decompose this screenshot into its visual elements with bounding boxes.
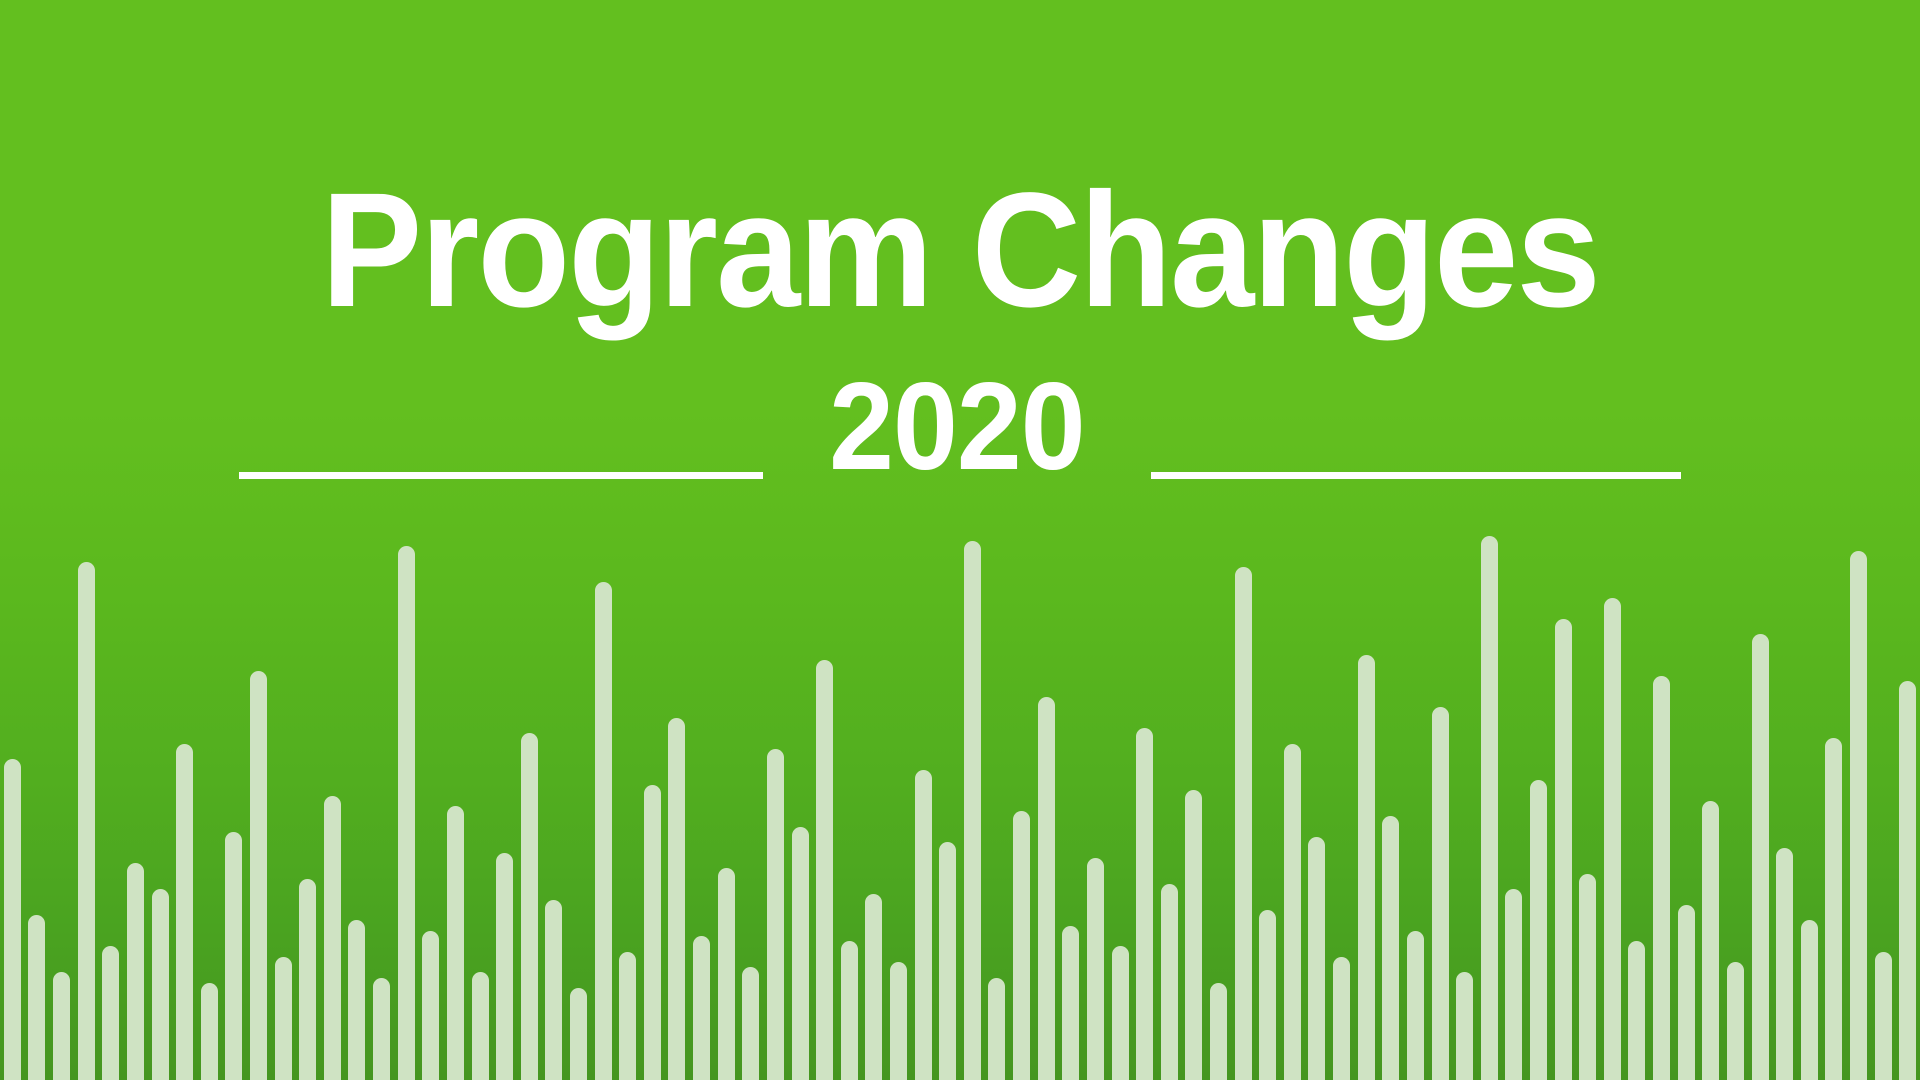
waveform-bar (1678, 905, 1695, 1080)
waveform-bar (1530, 780, 1547, 1080)
waveform-bar-chart (0, 520, 1920, 1080)
waveform-bar (1382, 816, 1399, 1080)
waveform-bar (1308, 837, 1325, 1080)
waveform-bar (398, 546, 415, 1080)
waveform-bar (915, 770, 932, 1080)
waveform-bar (152, 889, 169, 1080)
waveform-bar (841, 941, 858, 1080)
waveform-bar (816, 660, 833, 1080)
waveform-bar (521, 733, 538, 1080)
waveform-bar (1432, 707, 1449, 1080)
waveform-bar (1112, 946, 1129, 1080)
waveform-bar (1284, 744, 1301, 1080)
waveform-bar (1456, 972, 1473, 1080)
waveform-bar (1358, 655, 1375, 1080)
subtitle-row: 2020 (0, 352, 1920, 502)
waveform-bar (324, 796, 341, 1080)
waveform-bar (1038, 697, 1055, 1080)
waveform-bar (668, 718, 685, 1080)
waveform-bar (275, 957, 292, 1080)
waveform-bar (496, 853, 513, 1080)
waveform-bar (1653, 676, 1670, 1080)
waveform-bar (1628, 941, 1645, 1080)
waveform-bar (964, 541, 981, 1080)
waveform-bar (472, 972, 489, 1080)
waveform-bar (1850, 551, 1867, 1080)
waveform-bar (693, 936, 710, 1080)
waveform-bar (1752, 634, 1769, 1080)
waveform-bar (53, 972, 70, 1080)
waveform-bar (545, 900, 562, 1080)
waveform-bar (1136, 728, 1153, 1080)
waveform-bar (939, 842, 956, 1080)
page-title: Program Changes (67, 168, 1853, 331)
waveform-bar (1727, 962, 1744, 1080)
waveform-bar (201, 983, 218, 1080)
waveform-bar (4, 759, 21, 1080)
waveform-bar (1776, 848, 1793, 1080)
waveform-bar (78, 562, 95, 1080)
waveform-bar (1235, 567, 1252, 1080)
waveform-bar (1555, 619, 1572, 1080)
waveform-bar (28, 915, 45, 1080)
waveform-bar (1333, 957, 1350, 1080)
waveform-bar (1825, 738, 1842, 1080)
waveform-bar (447, 806, 464, 1080)
page-subtitle-year: 2020 (829, 365, 1085, 489)
waveform-bar (718, 868, 735, 1080)
waveform-bar (1579, 874, 1596, 1080)
waveform-bar (1407, 931, 1424, 1080)
divider-line-left (239, 472, 763, 479)
waveform-bar (644, 785, 661, 1080)
waveform-bar (1481, 536, 1498, 1080)
waveform-bar (176, 744, 193, 1080)
waveform-bar (373, 978, 390, 1080)
waveform-bar (595, 582, 612, 1080)
waveform-bar (890, 962, 907, 1080)
waveform-bar (570, 988, 587, 1080)
waveform-bar (1161, 884, 1178, 1080)
waveform-bar (1899, 681, 1916, 1080)
waveform-bar (1801, 920, 1818, 1080)
waveform-bar (1604, 598, 1621, 1080)
waveform-bar (1702, 801, 1719, 1080)
waveform-bar (619, 952, 636, 1080)
banner-root: Program Changes 2020 (0, 0, 1920, 1080)
waveform-bar (1185, 790, 1202, 1080)
waveform-bar (988, 978, 1005, 1080)
waveform-bar (1013, 811, 1030, 1080)
waveform-bar (127, 863, 144, 1080)
waveform-bar (1210, 983, 1227, 1080)
waveform-bar (299, 879, 316, 1080)
divider-line-right (1151, 472, 1681, 479)
waveform-bar (225, 832, 242, 1080)
waveform-bar (1875, 952, 1892, 1080)
waveform-bar (1087, 858, 1104, 1080)
waveform-bar (1505, 889, 1522, 1080)
waveform-bar (742, 967, 759, 1080)
waveform-bar (348, 920, 365, 1080)
waveform-bar (1259, 910, 1276, 1080)
waveform-bar (792, 827, 809, 1080)
waveform-bar (767, 749, 784, 1080)
waveform-bar (422, 931, 439, 1080)
waveform-bar (250, 671, 267, 1080)
waveform-bar (865, 894, 882, 1080)
waveform-bar (102, 946, 119, 1080)
waveform-bar (1062, 926, 1079, 1080)
